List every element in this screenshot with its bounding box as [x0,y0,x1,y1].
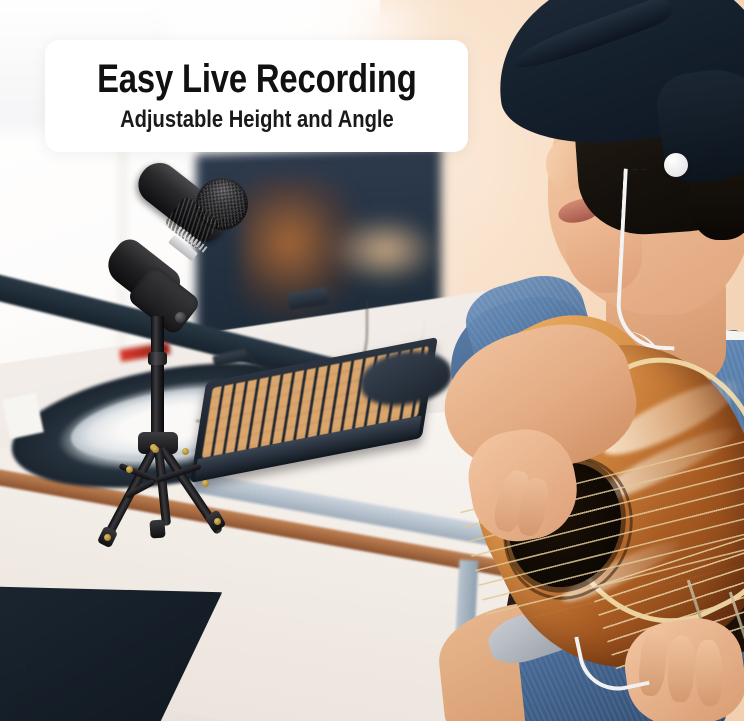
page-title: Easy Live Recording [97,59,417,101]
headline-panel: Easy Live Recording Adjustable Height an… [45,40,468,152]
tripod-foot [149,519,165,538]
tripod-screw [104,534,111,541]
tripod-screw [182,448,189,455]
tripod-screw [214,518,221,525]
stand-pole [151,316,164,436]
product-banner: Easy Live Recording Adjustable Height an… [0,0,744,721]
page-subtitle: Adjustable Height and Angle [120,107,394,133]
stand-height-collar [148,352,167,365]
tripod-screw [152,446,159,453]
tripod-screw [202,480,209,487]
tripod-screw [126,466,133,473]
clip-adjust-screw [175,312,186,323]
